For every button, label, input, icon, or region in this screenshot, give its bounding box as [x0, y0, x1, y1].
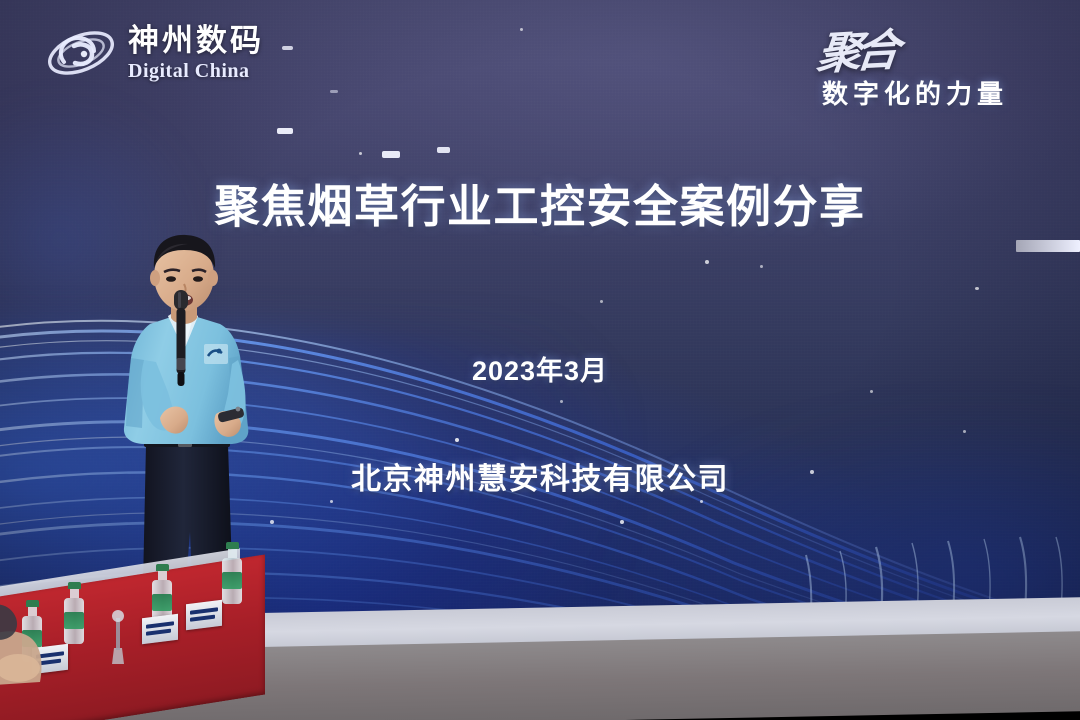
- particle: [330, 90, 338, 93]
- name-card: [142, 614, 178, 644]
- event-logo: 聚合 数字化的力量: [794, 16, 1054, 116]
- brand-name-cn: 神州数码: [128, 25, 264, 56]
- particle: [700, 500, 703, 503]
- particle: [560, 400, 563, 403]
- name-card: [186, 600, 222, 630]
- particle: [359, 152, 362, 155]
- particle: [330, 500, 333, 503]
- particle: [963, 430, 966, 433]
- particle: [382, 151, 400, 158]
- particle: [705, 260, 709, 264]
- water-bottle: [64, 582, 84, 644]
- slide-title: 聚焦烟草行业工控安全案例分享: [0, 184, 1080, 229]
- particle: [600, 300, 603, 303]
- event-slogan: 数字化的力量: [822, 74, 1008, 111]
- event-calligraphy: 聚合: [814, 14, 897, 82]
- particle: [760, 265, 763, 268]
- digital-china-logo: 神州数码 Digital China: [44, 22, 264, 84]
- brand-name-en: Digital China: [128, 61, 264, 81]
- chest-logo: [204, 344, 228, 364]
- particle: [437, 147, 450, 153]
- particle: [520, 28, 523, 31]
- particle: [975, 287, 979, 290]
- particle: [455, 438, 459, 442]
- particle: [620, 520, 624, 524]
- seated-attendee: [0, 590, 58, 720]
- screen-edge-bar: [1016, 240, 1080, 252]
- conference-photo: 神州数码 Digital China 聚合 数字化的力量 聚焦烟草行业工控安全案…: [0, 0, 1080, 720]
- particle: [870, 390, 873, 393]
- swirl-galaxy-icon: [44, 22, 118, 84]
- water-bottle: [222, 542, 242, 604]
- particle: [282, 46, 293, 50]
- particle: [277, 128, 293, 134]
- table-microphone-icon: [98, 608, 138, 668]
